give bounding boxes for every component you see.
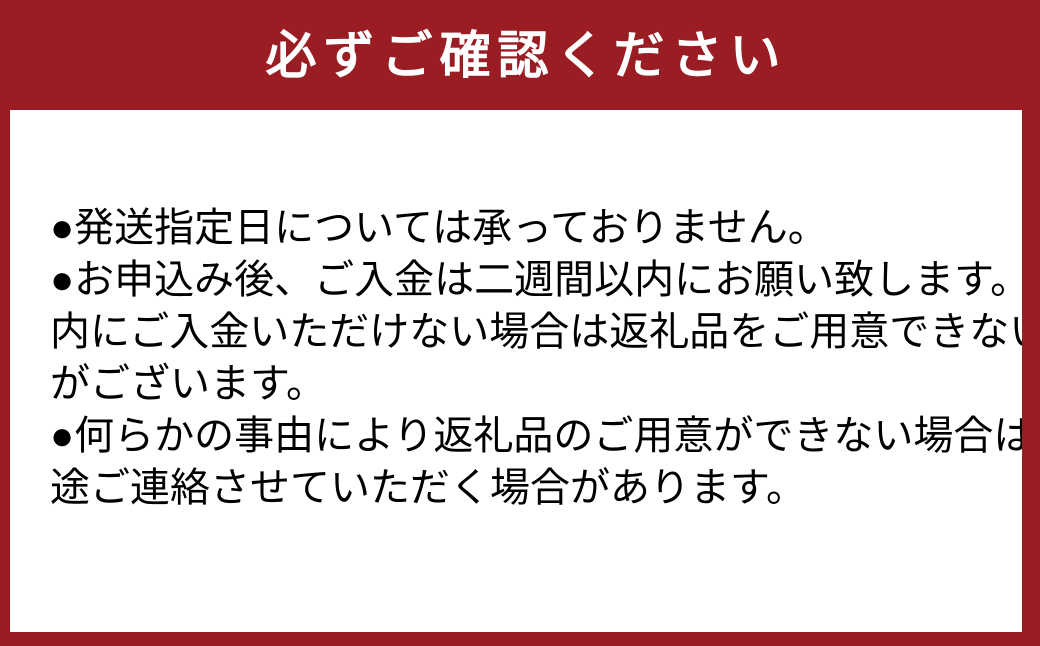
list-item: 内にご入金いただけない場合は返礼品をご用意できない場合: [50, 306, 1010, 358]
page-title: 必ずご確認ください: [258, 30, 787, 81]
notice-body-plate: ●発送指定日については承っておりません。 ●お申込み後、ご入金は二週間以内にお願…: [10, 110, 1022, 632]
list-item: がございます。: [50, 358, 1010, 410]
list-item: ●発送指定日については承っておりません。: [50, 202, 1010, 254]
list-item: 途ご連絡させていただく場合があります。: [50, 462, 1010, 514]
notice-header-band: 必ずご確認ください: [0, 0, 1040, 110]
list-item: ●何らかの事由により返礼品のご用意ができない場合は、別: [50, 410, 1010, 462]
notice-list: ●発送指定日については承っておりません。 ●お申込み後、ご入金は二週間以内にお願…: [50, 202, 1010, 514]
list-item: ●お申込み後、ご入金は二週間以内にお願い致します。期限: [50, 254, 1010, 306]
important-notice-panel: 必ずご確認ください ●発送指定日については承っておりません。 ●お申込み後、ご入…: [0, 0, 1040, 646]
